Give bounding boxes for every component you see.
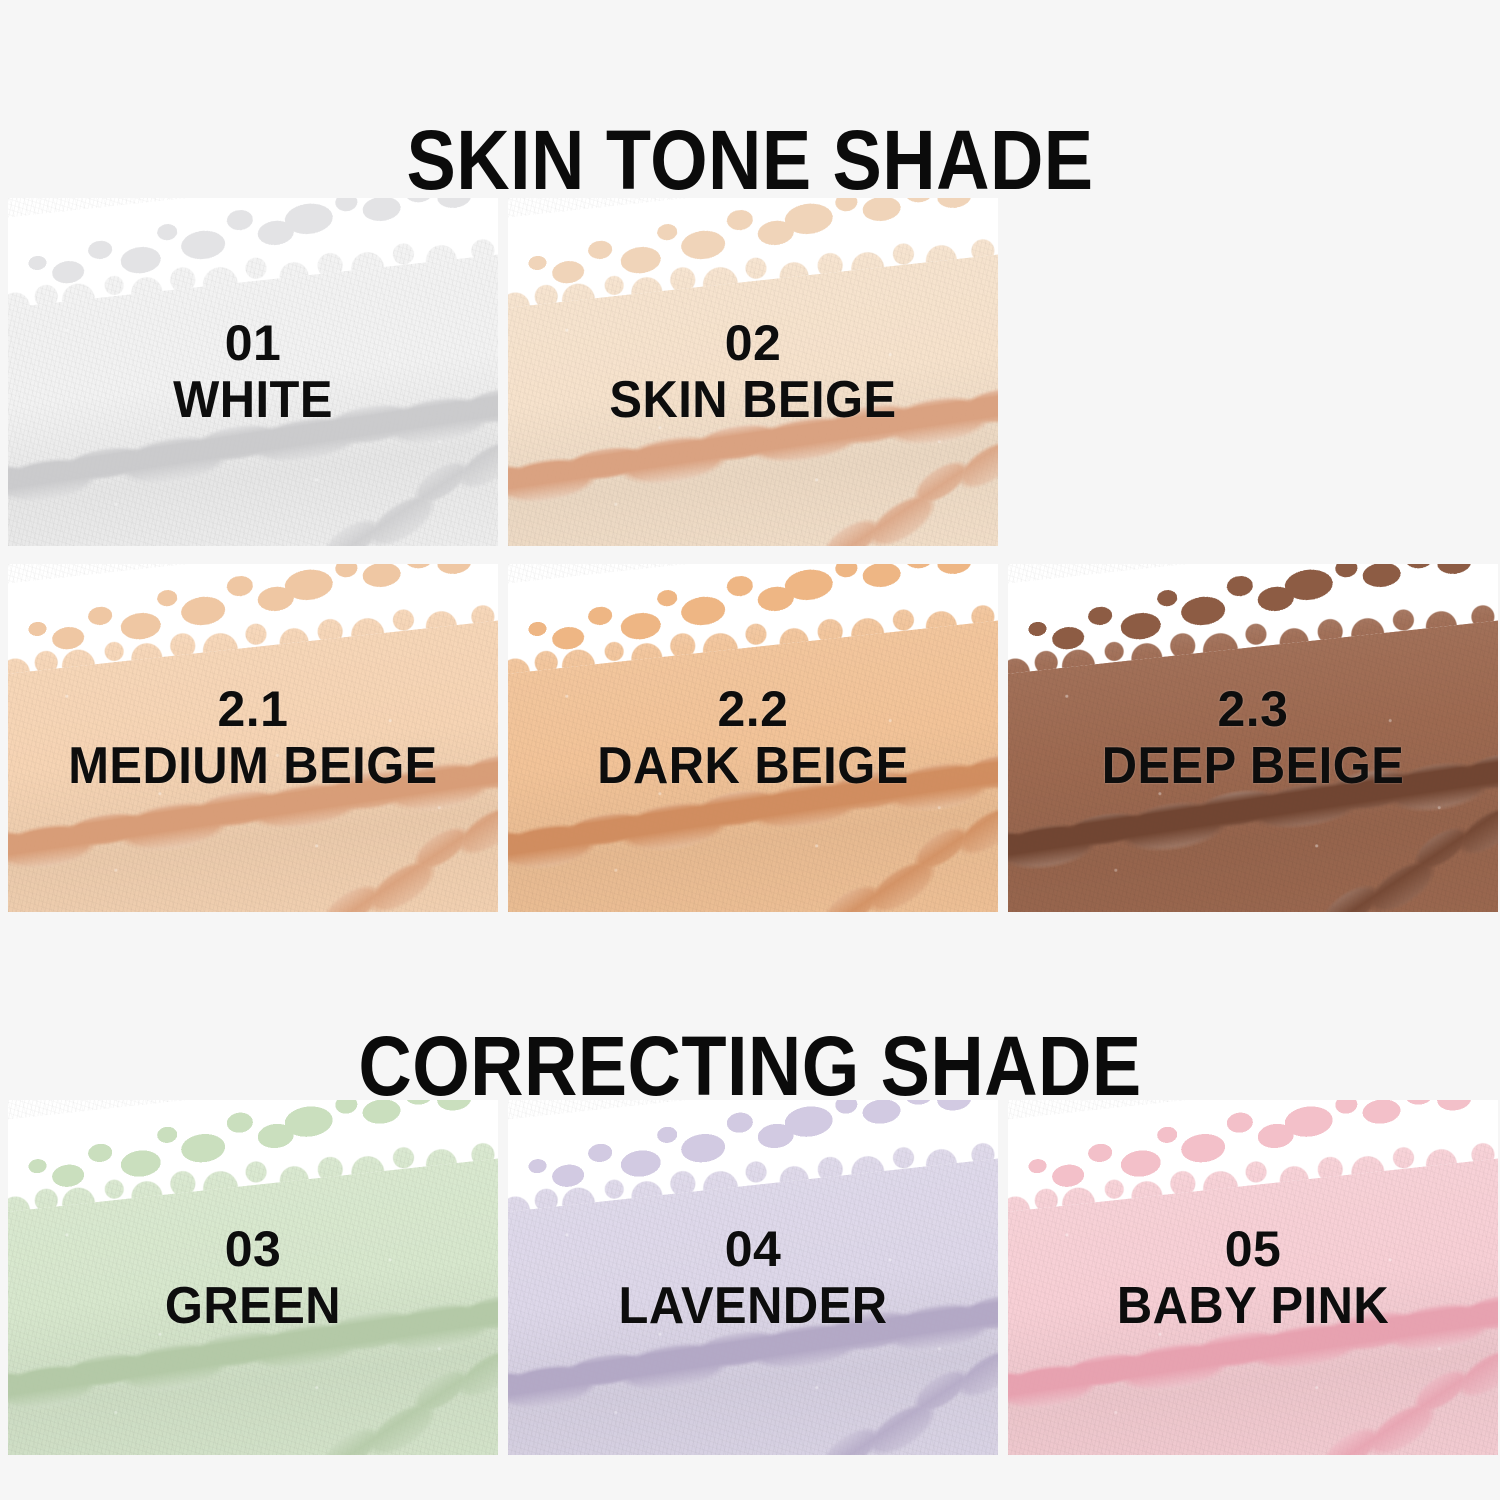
- shade-tile-01-white[interactable]: 01 WHITE: [8, 198, 498, 546]
- powder-swatch: [8, 564, 498, 912]
- shade-tile-23-deep-beige[interactable]: 2.3 DEEP BEIGE: [1008, 564, 1498, 912]
- powder-swatch: [1008, 564, 1498, 912]
- powder-swatch: [8, 198, 498, 546]
- powder-swatch: [508, 198, 998, 546]
- shade-tile-placeholder: [1008, 198, 1498, 546]
- shade-tile-21-medium-beige[interactable]: 2.1 MEDIUM BEIGE: [8, 564, 498, 912]
- shade-tile-02-skin-beige[interactable]: 02 SKIN BEIGE: [508, 198, 998, 546]
- powder-swatch: [8, 1100, 498, 1455]
- shade-tile-05-baby-pink[interactable]: 05 BABY PINK: [1008, 1100, 1498, 1455]
- shade-row-correcting: 03 GREEN 04 LAVENDER: [8, 1100, 1492, 1455]
- section-heading-skin-tone: SKIN TONE SHADE: [90, 118, 1410, 202]
- shade-row-skin-tone-2: 2.1 MEDIUM BEIGE 2.2 DARK BEIGE: [8, 564, 1492, 912]
- shade-row-skin-tone-1: 01 WHITE 02 SKIN BEIGE: [8, 198, 1492, 546]
- powder-swatch: [508, 1100, 998, 1455]
- powder-swatch: [508, 564, 998, 912]
- shade-tile-03-green[interactable]: 03 GREEN: [8, 1100, 498, 1455]
- powder-swatch: [1008, 1100, 1498, 1455]
- shade-tile-04-lavender[interactable]: 04 LAVENDER: [508, 1100, 998, 1455]
- section-heading-correcting: CORRECTING SHADE: [90, 1024, 1410, 1108]
- shade-chart-page: SKIN TONE SHADE 01 WHITE: [0, 0, 1500, 1500]
- shade-tile-22-dark-beige[interactable]: 2.2 DARK BEIGE: [508, 564, 998, 912]
